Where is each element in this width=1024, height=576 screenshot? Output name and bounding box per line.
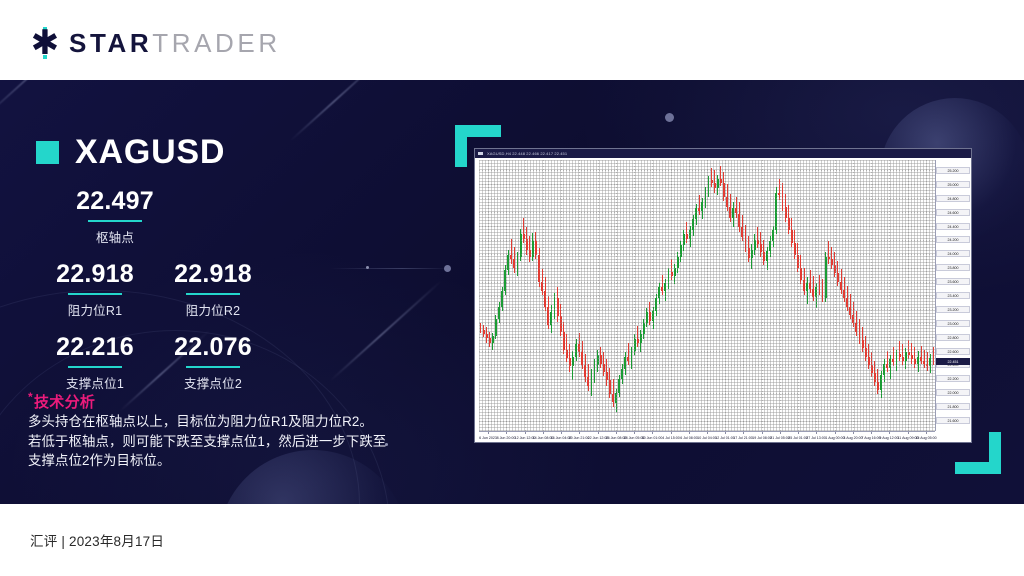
- time-tick-label: 3 Aug 20:00: [843, 435, 862, 441]
- price-tick-label: 24.200: [936, 236, 970, 243]
- price-tick-label: 22.000: [936, 389, 970, 396]
- resistance-r2-label: 阻力位R2: [154, 300, 272, 319]
- pivot-row-center: 22.497 枢轴点: [36, 186, 356, 259]
- underline-accent: [68, 293, 122, 295]
- pivot-point-value: 22.497: [56, 186, 174, 220]
- time-tick-label: 8 Jun 20:00: [497, 435, 516, 441]
- time-tick-label: 17 Jul 21:00: [733, 435, 753, 441]
- resistance-r1-label: 阻力位R1: [36, 300, 154, 319]
- underline-accent: [186, 366, 240, 368]
- analysis-heading-text: 技术分析: [34, 394, 95, 411]
- footer-bar: 汇评 | 2023年8月17日: [0, 504, 1024, 576]
- pivot-levels-panel: 22.497 枢轴点 22.918 阻力位R1 22.918 阻力位R2 22.…: [36, 186, 356, 405]
- time-tick-label: 1 Aug 00:00: [825, 435, 844, 441]
- time-tick-label: 21 Jul 05:00: [770, 435, 790, 441]
- brand-name-bold: STAR: [69, 28, 152, 58]
- resistance-r2-cell: 22.918 阻力位R2: [154, 259, 272, 319]
- price-tick-label: 23.400: [936, 292, 970, 299]
- support-s1-value: 22.216: [36, 332, 154, 366]
- price-tick-label: 25.000: [936, 181, 970, 188]
- support-s2-value: 22.076: [154, 332, 272, 366]
- price-tick-label: 21.800: [936, 403, 970, 410]
- price-tick-label: 24.400: [936, 223, 970, 230]
- price-tick-label: 22.200: [936, 375, 970, 382]
- price-tick-label: 21.600: [936, 417, 970, 424]
- chart-quote-readout: XAGUSD,H4 22.448 22.466 22.417 22.451: [487, 151, 567, 156]
- dot-decor: [665, 113, 674, 122]
- support-s1-cell: 22.216 支撑点位1: [36, 332, 154, 392]
- chart-window[interactable]: XAGUSD,H4 22.448 22.466 22.417 22.451 25…: [474, 148, 972, 443]
- price-tick-label: 23.200: [936, 306, 970, 313]
- time-tick-label: 12 Jul 01:00: [715, 435, 735, 441]
- analysis-line-3: 支撑点位2作为目标位。: [28, 451, 408, 471]
- underline-accent: [186, 293, 240, 295]
- resistance-r2-value: 22.918: [154, 259, 272, 293]
- price-tick-label: 23.600: [936, 278, 970, 285]
- underline-accent: [68, 366, 122, 368]
- time-tick-label: 4 Jul 15:00: [662, 435, 680, 441]
- price-tick-label: 22.600: [936, 348, 970, 355]
- analysis-body: 多头持仓在枢轴点以上，目标位为阻力位R1及阻力位R2。 若低于枢轴点，则可能下跌…: [28, 412, 408, 471]
- time-tick-label: 6 Jul 08:00: [680, 435, 698, 441]
- support-s2-label: 支撑点位2: [154, 373, 272, 392]
- time-tick-label: 15 Aug 05:00: [915, 435, 936, 441]
- time-tick-label: 19 Jul 08:00: [752, 435, 772, 441]
- price-tick-label: 24.800: [936, 195, 970, 202]
- dot-decor: [366, 266, 369, 269]
- price-tick-label: 25.200: [936, 167, 970, 174]
- chart-body: 25.20025.00024.80024.60024.40024.20024.0…: [475, 158, 971, 443]
- footer-caption: 汇评 | 2023年8月17日: [30, 530, 164, 550]
- star-asterisk-icon: ✱: [30, 27, 60, 59]
- poster-root: ✱ STARTRADER XAGUSD: [0, 0, 1024, 576]
- analysis-line-1: 多头持仓在枢轴点以上，目标位为阻力位R1及阻力位R2。: [28, 412, 408, 432]
- time-tick-label: 9 Aug 12:00: [879, 435, 898, 441]
- pivot-point-label: 枢轴点: [56, 227, 174, 246]
- underline-accent: [88, 220, 142, 222]
- time-tick-label: 7 Aug 16:00: [861, 435, 880, 441]
- analysis-heading: *技术分析: [28, 390, 95, 412]
- square-bullet-icon: [36, 141, 59, 164]
- price-tick-label: 24.000: [936, 250, 970, 257]
- price-axis[interactable]: 25.20025.00024.80024.60024.40024.20024.0…: [935, 160, 971, 431]
- analysis-line-2: 若低于枢轴点，则可能下跌至支撑点位1，然后进一步下跌至: [28, 432, 408, 452]
- symbol-title: XAGUSD: [36, 133, 225, 172]
- price-tick-label: 23.800: [936, 264, 970, 271]
- time-axis[interactable]: 6 Jun 20238 Jun 20:0012 Jun 12:0014 Jun …: [479, 431, 935, 443]
- price-tick-label: 24.600: [936, 209, 970, 216]
- time-tick-label: 6 Jun 2023: [479, 435, 497, 441]
- resistance-r1-cell: 22.918 阻力位R1: [36, 259, 154, 319]
- brand-wordmark: STARTRADER: [69, 28, 281, 59]
- time-tick-label: 25 Jul 01:00: [788, 435, 808, 441]
- current-price-label: 22.451: [936, 358, 970, 365]
- brand-name-light: TRADER: [152, 28, 281, 58]
- symbol-name: XAGUSD: [75, 133, 225, 172]
- price-tick-label: 22.800: [936, 334, 970, 341]
- dot-decor: [444, 265, 451, 272]
- chart-plot-area[interactable]: [479, 160, 935, 431]
- asterisk-icon: *: [28, 390, 33, 404]
- brand-logo[interactable]: ✱ STARTRADER: [30, 27, 281, 59]
- header-bar: ✱ STARTRADER: [0, 0, 1024, 80]
- time-tick-label: 30 Jun 01:00: [642, 435, 663, 441]
- window-control-icon[interactable]: [478, 152, 483, 155]
- price-tick-label: 23.000: [936, 320, 970, 327]
- time-tick-label: 10 Jul 04:00: [697, 435, 717, 441]
- pivot-row-resistance: 22.918 阻力位R1 22.918 阻力位R2: [36, 259, 356, 332]
- time-tick-label: 20 Jun 21:00: [569, 435, 590, 441]
- support-s2-cell: 22.076 支撑点位2: [154, 332, 272, 392]
- pivot-point-cell: 22.497 枢轴点: [56, 186, 174, 246]
- chart-titlebar: XAGUSD,H4 22.448 22.466 22.417 22.451: [475, 149, 971, 158]
- time-tick-label: 27 Jul 13:00: [806, 435, 826, 441]
- resistance-r1-value: 22.918: [36, 259, 154, 293]
